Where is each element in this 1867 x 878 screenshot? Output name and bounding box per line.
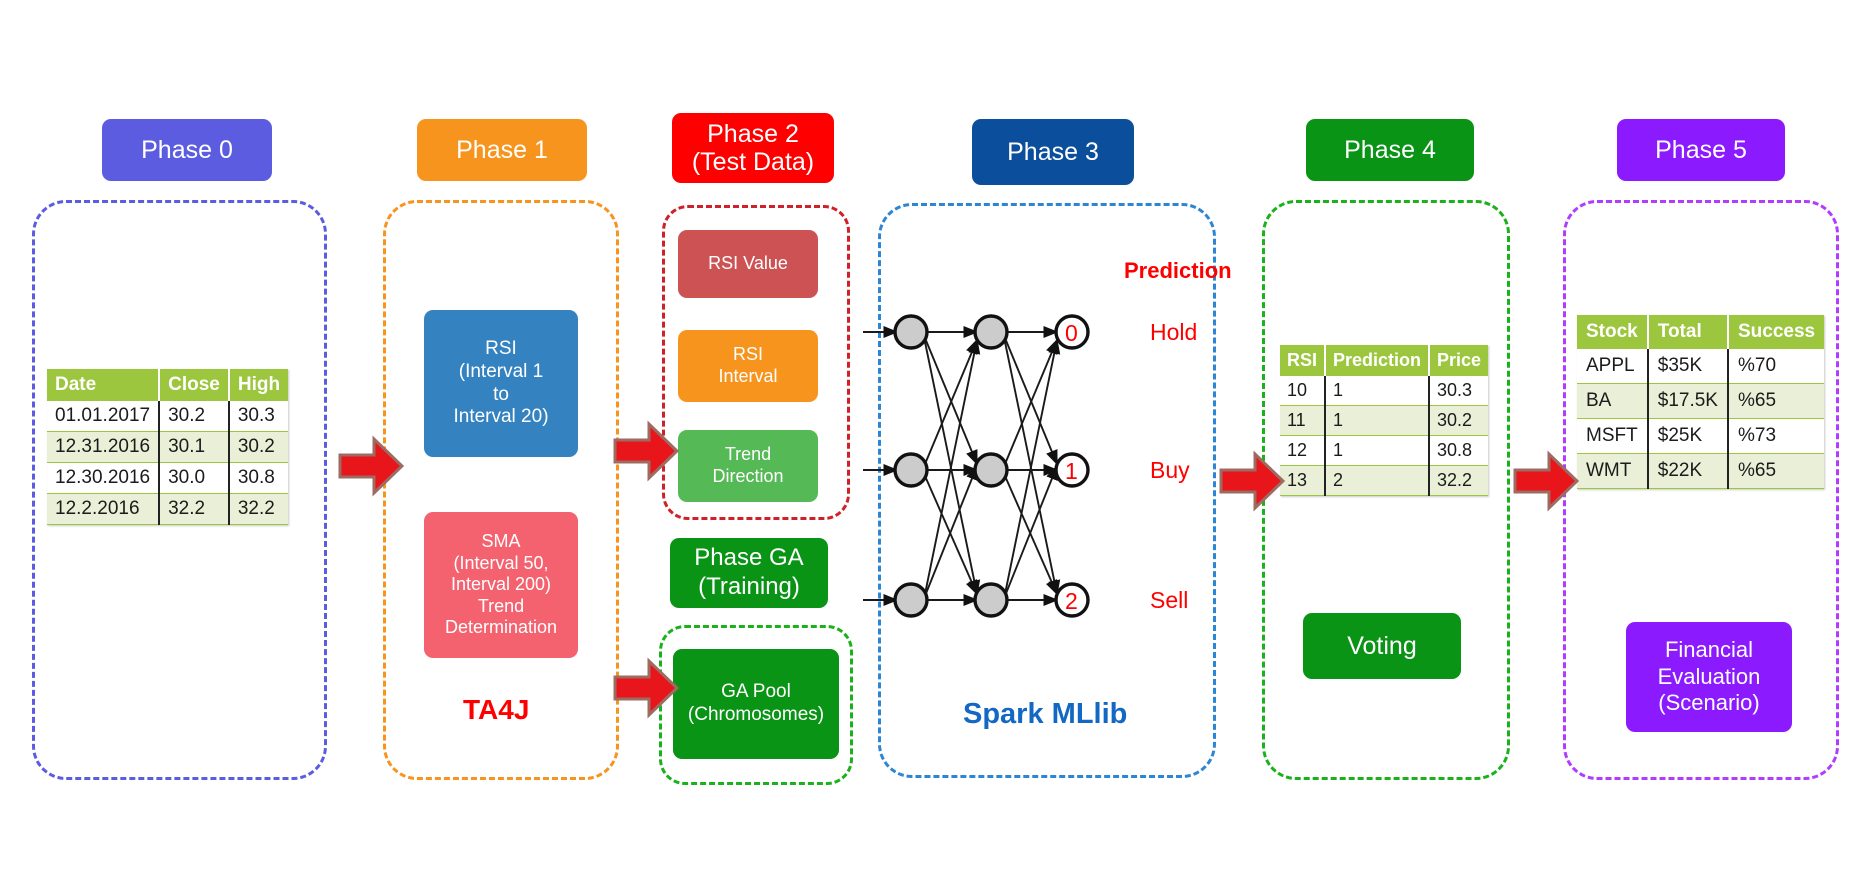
rsi-interval-line-1: RSI (718, 344, 777, 366)
neural-network-graph (855, 300, 1155, 640)
financial-eval-line-1: Financial (1658, 637, 1761, 663)
output-label-hold: Hold (1150, 319, 1197, 346)
arrow-phase4-to-phase5 (1513, 450, 1579, 512)
table-header-row: Stock Total Success (1577, 315, 1824, 349)
phase-0-table: Date Close High 01.01.2017 30.2 30.3 12.… (47, 369, 288, 525)
output-node-index-0: 0 (1065, 320, 1078, 347)
cell-prediction: 1 (1325, 436, 1429, 466)
cell-rsi: 12 (1280, 436, 1325, 466)
phase-ga-line-1: Phase GA (694, 544, 803, 573)
ta4j-text: TA4J (463, 694, 529, 725)
rsi-interval-box: RSI Interval (678, 330, 818, 402)
table-row: 01.01.2017 30.2 30.3 (47, 401, 288, 432)
ta4j-framework-label: TA4J (463, 694, 529, 726)
col-date: Date (47, 369, 159, 401)
phase-3-label: Phase 3 (972, 119, 1134, 185)
phase-4-table: RSI Prediction Price 10 1 30.3 11 1 30.2… (1280, 345, 1488, 496)
col-price: Price (1429, 345, 1488, 376)
phase-2-label-line-2: (Test Data) (692, 148, 814, 176)
phase-5-table: Stock Total Success APPL $35K %70 BA $17… (1577, 315, 1824, 489)
phase-5-label: Phase 5 (1617, 119, 1785, 181)
cell-prediction: 1 (1325, 406, 1429, 436)
cell-success: %65 (1728, 454, 1824, 489)
output-node-index-2: 2 (1065, 588, 1078, 615)
col-total: Total (1648, 315, 1728, 349)
col-high: High (229, 369, 288, 401)
cell-stock: WMT (1577, 454, 1648, 489)
cell-price: 32.2 (1429, 466, 1488, 496)
phase-4-label: Phase 4 (1306, 119, 1474, 181)
rsi-box-line-3: to (453, 384, 548, 407)
phase-0-label: Phase 0 (102, 119, 272, 181)
phase-5-label-text: Phase 5 (1655, 136, 1747, 164)
rsi-value-box: RSI Value (678, 230, 818, 298)
cell-rsi: 13 (1280, 466, 1325, 496)
table-row: 11 1 30.2 (1280, 406, 1488, 436)
table-row: MSFT $25K %73 (1577, 419, 1824, 454)
cell-close: 30.0 (159, 463, 229, 494)
cell-rsi: 11 (1280, 406, 1325, 436)
rsi-box-line-1: RSI (453, 338, 548, 361)
cell-prediction: 2 (1325, 466, 1429, 496)
cell-high: 30.3 (229, 401, 288, 432)
ga-pool-box: GA Pool (Chromosomes) (673, 649, 839, 759)
prediction-text: Prediction (1124, 258, 1232, 283)
cell-high: 32.2 (229, 494, 288, 525)
spark-mllib-label: Spark MLlib (963, 698, 1127, 731)
table-row: APPL $35K %70 (1577, 349, 1824, 384)
cell-rsi: 10 (1280, 376, 1325, 406)
sma-trend-determination-box: SMA (Interval 50, Interval 200) Trend De… (424, 512, 578, 658)
cell-date: 12.30.2016 (47, 463, 159, 494)
cell-stock: MSFT (1577, 419, 1648, 454)
rsi-box-line-2: (Interval 1 (453, 361, 548, 384)
arrow-phase0-to-phase1 (338, 435, 404, 497)
phase-0-label-text: Phase 0 (141, 136, 233, 164)
rsi-interval-line-2: Interval (718, 366, 777, 388)
table-row: 12 1 30.8 (1280, 436, 1488, 466)
arrow-phase1-to-phase2-top (613, 420, 679, 482)
cell-price: 30.8 (1429, 436, 1488, 466)
phase-2-label-line-1: Phase 2 (692, 120, 814, 148)
col-prediction: Prediction (1325, 345, 1429, 376)
cell-high: 30.8 (229, 463, 288, 494)
trend-direction-line-2: Direction (712, 466, 783, 488)
phase-1-label: Phase 1 (417, 119, 587, 181)
trend-direction-line-1: Trend (712, 444, 783, 466)
phase-1-label-text: Phase 1 (456, 136, 548, 164)
financial-eval-line-3: (Scenario) (1658, 690, 1761, 716)
table-row: BA $17.5K %65 (1577, 384, 1824, 419)
rsi-value-text: RSI Value (708, 253, 788, 275)
cell-date: 01.01.2017 (47, 401, 159, 432)
arrow-phase1-to-ga-pool (613, 657, 679, 719)
output-label-sell: Sell (1150, 587, 1188, 614)
sma-box-line-5: Determination (445, 617, 557, 639)
col-close: Close (159, 369, 229, 401)
cell-close: 30.2 (159, 401, 229, 432)
cell-date: 12.31.2016 (47, 432, 159, 463)
cell-prediction: 1 (1325, 376, 1429, 406)
table-row: 13 2 32.2 (1280, 466, 1488, 496)
cell-price: 30.2 (1429, 406, 1488, 436)
col-stock: Stock (1577, 315, 1648, 349)
prediction-label: Prediction (1124, 258, 1232, 284)
financial-eval-line-2: Evaluation (1658, 664, 1761, 690)
cell-high: 30.2 (229, 432, 288, 463)
cell-total: $17.5K (1648, 384, 1728, 419)
voting-box: Voting (1303, 613, 1461, 679)
ga-pool-line-1: GA Pool (688, 681, 824, 704)
cell-price: 30.3 (1429, 376, 1488, 406)
cell-close: 30.1 (159, 432, 229, 463)
rsi-box-line-4: Interval 20) (453, 406, 548, 429)
sma-box-line-1: SMA (445, 531, 557, 553)
table-row: 10 1 30.3 (1280, 376, 1488, 406)
arrow-phase3-to-phase4 (1219, 450, 1285, 512)
trend-direction-box: Trend Direction (678, 430, 818, 502)
cell-stock: BA (1577, 384, 1648, 419)
table-header-row: Date Close High (47, 369, 288, 401)
sma-box-line-4: Trend (445, 596, 557, 618)
ga-pool-line-2: (Chromosomes) (688, 704, 824, 727)
cell-date: 12.2.2016 (47, 494, 159, 525)
sma-box-line-3: Interval 200) (445, 574, 557, 596)
financial-evaluation-box: Financial Evaluation (Scenario) (1626, 622, 1792, 732)
phase-2-label: Phase 2 (Test Data) (672, 113, 834, 183)
pipeline-diagram: Phase 0 Date Close High 01.01.2017 30.2 … (0, 0, 1867, 878)
phase-1-frame (383, 200, 619, 780)
output-label-buy: Buy (1150, 457, 1190, 484)
voting-text: Voting (1347, 631, 1417, 661)
spark-mllib-text: Spark MLlib (963, 698, 1127, 730)
table-row: 12.2.2016 32.2 32.2 (47, 494, 288, 525)
phase-ga-line-2: (Training) (694, 573, 803, 602)
rsi-interval-range-box: RSI (Interval 1 to Interval 20) (424, 310, 578, 457)
phase-3-label-text: Phase 3 (1007, 138, 1099, 166)
cell-total: $25K (1648, 419, 1728, 454)
cell-success: %73 (1728, 419, 1824, 454)
cell-success: %65 (1728, 384, 1824, 419)
col-rsi: RSI (1280, 345, 1325, 376)
col-success: Success (1728, 315, 1824, 349)
cell-stock: APPL (1577, 349, 1648, 384)
phase-4-label-text: Phase 4 (1344, 136, 1436, 164)
table-header-row: RSI Prediction Price (1280, 345, 1488, 376)
cell-close: 32.2 (159, 494, 229, 525)
phase-ga-training-header: Phase GA (Training) (670, 538, 828, 608)
table-row: 12.30.2016 30.0 30.8 (47, 463, 288, 494)
sma-box-line-2: (Interval 50, (445, 553, 557, 575)
cell-total: $35K (1648, 349, 1728, 384)
table-row: 12.31.2016 30.1 30.2 (47, 432, 288, 463)
table-row: WMT $22K %65 (1577, 454, 1824, 489)
cell-total: $22K (1648, 454, 1728, 489)
output-node-index-1: 1 (1065, 458, 1078, 485)
cell-success: %70 (1728, 349, 1824, 384)
